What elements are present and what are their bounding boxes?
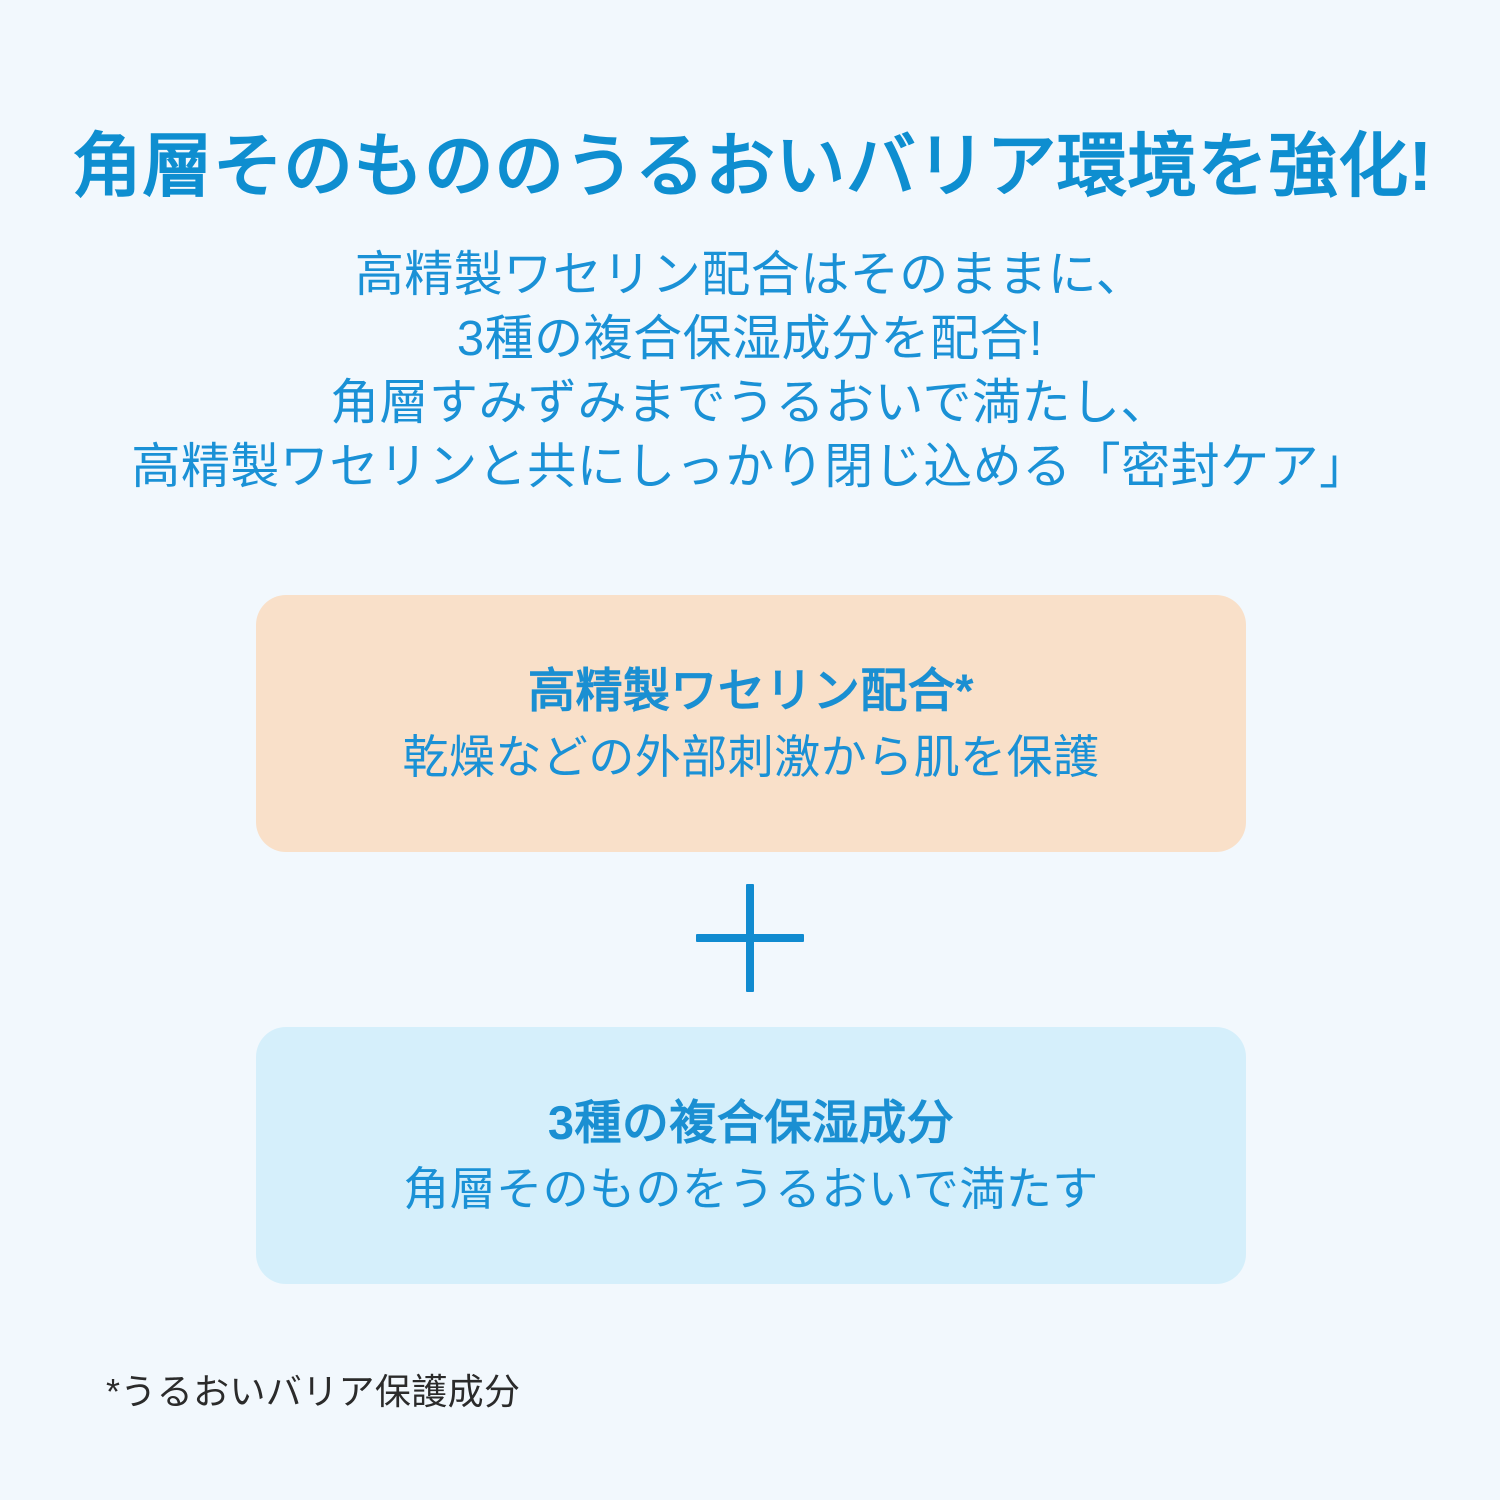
infographic-page: 角層そのもののうるおいバリア環境を強化! 高精製ワセリン配合はそのままに、 3種… — [0, 0, 1500, 1500]
vaseline-card: 高精製ワセリン配合* 乾燥などの外部刺激から肌を保護 — [256, 595, 1246, 852]
lead-line-2: 3種の複合保湿成分を配合! — [0, 307, 1500, 371]
page-title: 角層そのもののうるおいバリア環境を強化! — [72, 125, 1432, 208]
plus-icon — [696, 884, 804, 992]
lead-line-1: 高精製ワセリン配合はそのままに、 — [0, 243, 1500, 307]
vaseline-card-subtitle: 乾燥などの外部刺激から肌を保護 — [403, 729, 1100, 785]
moisturizer-card-title: 3種の複合保湿成分 — [548, 1094, 954, 1151]
plus-icon-vertical-bar — [746, 884, 754, 992]
moisturizer-card-subtitle: 角層そのものをうるおいで満たす — [403, 1161, 1099, 1217]
lead-paragraph: 高精製ワセリン配合はそのままに、 3種の複合保湿成分を配合! 角層すみずみまでう… — [0, 243, 1500, 499]
lead-line-3: 角層すみずみまでうるおいで満たし、 — [0, 371, 1500, 435]
footnote: *うるおいバリア保護成分 — [106, 1363, 520, 1415]
vaseline-card-title: 高精製ワセリン配合* — [528, 662, 974, 719]
lead-line-4: 高精製ワセリンと共にしっかり閉じ込める「密封ケア」 — [0, 435, 1500, 499]
moisturizer-card: 3種の複合保湿成分 角層そのものをうるおいで満たす — [256, 1027, 1246, 1284]
